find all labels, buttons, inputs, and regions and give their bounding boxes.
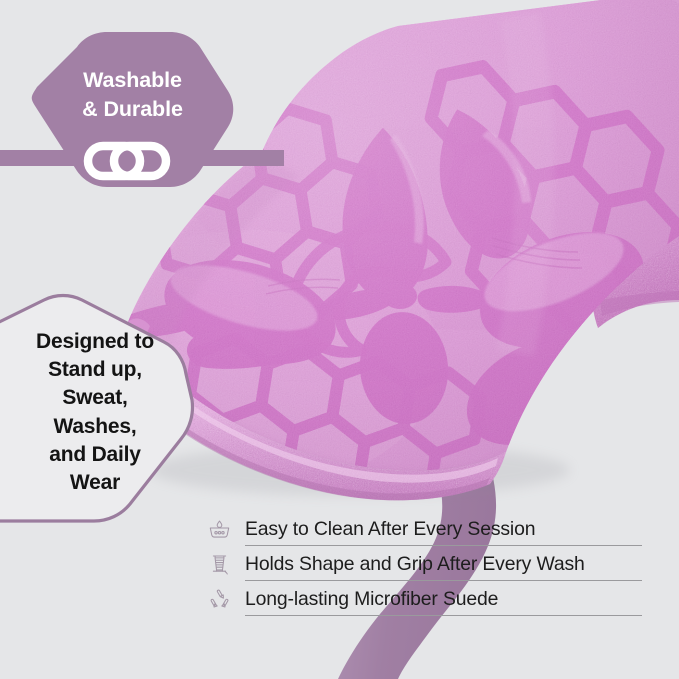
feature-underline [245, 580, 642, 581]
feature-underline [245, 615, 642, 616]
badge-designed-to-last [0, 295, 210, 535]
recycle-icon [202, 585, 236, 615]
feature-list: Easy to Clean After Every Session Holds … [202, 512, 647, 617]
feature-label: Easy to Clean After Every Session [236, 518, 647, 541]
feature-row-microfiber-suede: Long-lasting Microfiber Suede [202, 582, 647, 617]
feature-row-easy-to-clean: Easy to Clean After Every Session [202, 512, 647, 547]
feature-label: Holds Shape and Grip After Every Wash [236, 553, 647, 576]
feature-label: Long-lasting Microfiber Suede [236, 588, 647, 611]
badge-washable-durable-text: Washable & Durable [35, 66, 230, 124]
badge-line-2: & Durable [35, 95, 230, 124]
product-feature-infographic: Washable & Durable Designed to Stand up,… [0, 0, 679, 679]
thread-spool-icon [202, 550, 236, 580]
feature-underline [245, 545, 642, 546]
feature-row-holds-shape: Holds Shape and Grip After Every Wash [202, 547, 647, 582]
badge-line-1: Washable [83, 68, 182, 92]
badge-washable-durable: Washable & Durable [0, 20, 300, 235]
wash-basin-icon [202, 515, 236, 545]
